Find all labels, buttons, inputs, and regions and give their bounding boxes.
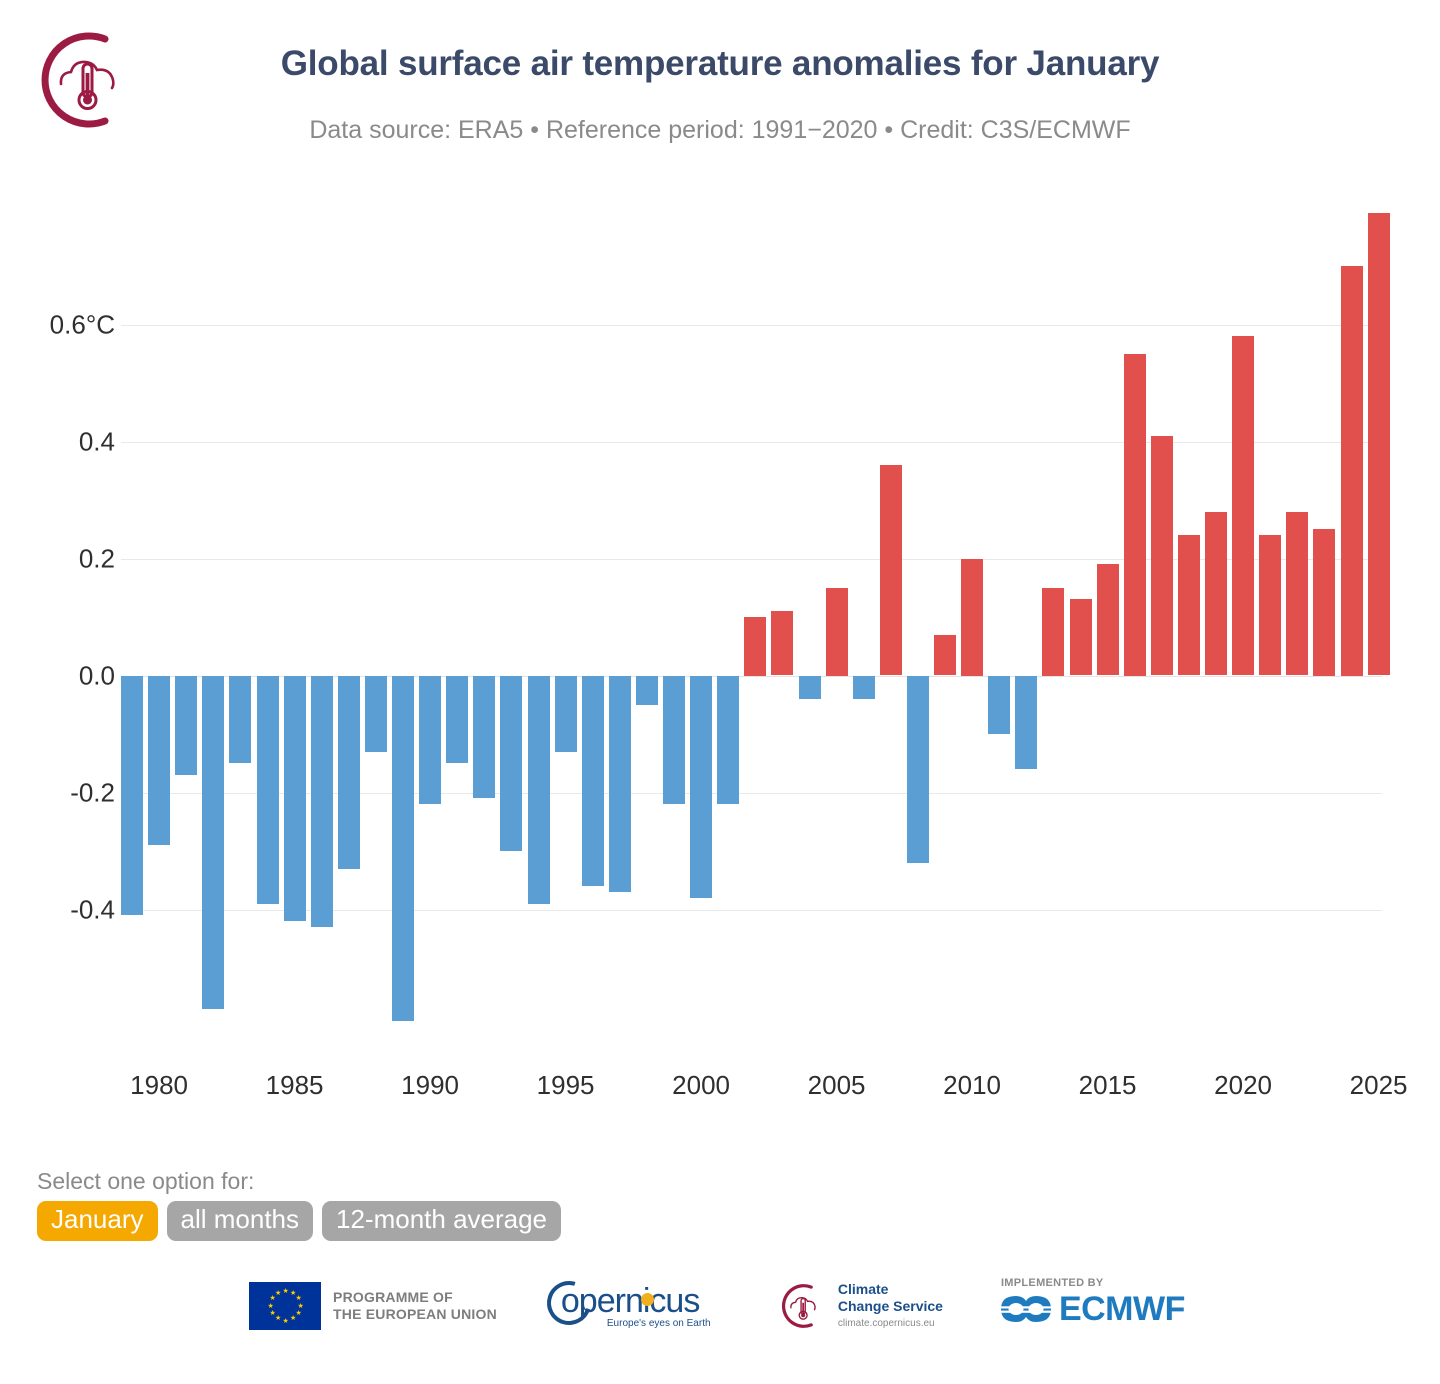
bar-1996[interactable] [582,676,604,887]
bar-1989[interactable] [392,676,414,1021]
x-axis-tick-label: 1985 [266,1070,324,1101]
eu-star-icon: ★ [270,1296,275,1301]
bar-1983[interactable] [229,676,251,764]
y-axis-tick-label: 0.4 [79,426,115,457]
bar-1987[interactable] [338,676,360,869]
x-axis-tick-label: 2010 [943,1070,1001,1101]
bar-1991[interactable] [446,676,468,764]
option-pill-january[interactable]: January [37,1201,158,1241]
bar-2006[interactable] [853,676,875,699]
bar-1981[interactable] [175,676,197,775]
bar-2017[interactable] [1151,436,1173,676]
bar-1994[interactable] [528,676,550,904]
bar-2002[interactable] [744,617,766,676]
eu-star-icon: ★ [296,1311,301,1316]
eu-logo-line1: PROGRAMME OF [333,1289,497,1307]
bar-1995[interactable] [555,676,577,752]
x-axis-tick-label: 2000 [672,1070,730,1101]
x-axis-tick-label: 1980 [130,1070,188,1101]
y-axis-tick-label: 0.2 [79,543,115,574]
bar-2022[interactable] [1286,512,1308,676]
x-axis-tick-label: 2025 [1350,1070,1408,1101]
bar-2008[interactable] [907,676,929,863]
bar-2001[interactable] [717,676,739,805]
bar-1985[interactable] [284,676,306,922]
bar-2014[interactable] [1070,599,1092,675]
eu-star-icon: ★ [290,1291,295,1296]
bar-2024[interactable] [1341,266,1363,676]
c3s-thermometer-cloud-icon [778,1282,826,1330]
bar-1998[interactable] [636,676,658,705]
c3s-url: climate.copernicus.eu [838,1318,943,1330]
copernicus-tagline: Europe's eyes on Earth [607,1318,711,1329]
copernicus-logo: opernicus Europe's eyes on Earth [545,1278,730,1334]
ecmwf-implemented-by-label: IMPLEMENTED BY [1001,1277,1104,1289]
eu-star-icon: ★ [270,1311,275,1316]
bar-2020[interactable] [1232,336,1254,675]
bar-2021[interactable] [1259,535,1281,675]
y-axis-tick-label: -0.4 [70,894,115,925]
chart-page: Global surface air temperature anomalies… [0,0,1440,1384]
eu-star-icon: ★ [275,1316,280,1321]
bar-2018[interactable] [1178,535,1200,675]
bar-1997[interactable] [609,676,631,892]
y-axis-tick-label: -0.2 [70,777,115,808]
option-selector: Select one option for: Januaryall months… [37,1168,561,1241]
x-axis-tick-label: 1995 [537,1070,595,1101]
bar-2003[interactable] [771,611,793,675]
bar-1986[interactable] [311,676,333,928]
gridline [121,442,1382,443]
x-axis-tick-label: 2005 [808,1070,866,1101]
option-pill-row: Januaryall months12-month average [37,1201,561,1241]
c3s-line1: Climate [838,1281,943,1298]
eu-logo-text: PROGRAMME OF THE EUROPEAN UNION [333,1289,497,1324]
bar-2016[interactable] [1124,354,1146,676]
bar-2025[interactable] [1368,213,1390,675]
eu-star-icon: ★ [296,1296,301,1301]
eu-star-icon: ★ [290,1316,295,1321]
bar-2011[interactable] [988,676,1010,735]
eu-logo-line2: THE EUROPEAN UNION [333,1306,497,1324]
x-axis-tick-label: 1990 [401,1070,459,1101]
option-pill-all-months[interactable]: all months [167,1201,314,1241]
bar-2015[interactable] [1097,564,1119,675]
bar-1993[interactable] [500,676,522,852]
bar-1979[interactable] [121,676,143,916]
ecmwf-logo: IMPLEMENTED BY ECMWF [991,1278,1191,1334]
bar-1984[interactable] [257,676,279,904]
x-axis-tick-label: 2015 [1079,1070,1137,1101]
eu-star-icon: ★ [298,1304,303,1309]
bar-2019[interactable] [1205,512,1227,676]
bar-2013[interactable] [1042,588,1064,676]
eu-flag-icon: ★★★★★★★★★★★★ [249,1282,321,1330]
bar-2012[interactable] [1015,676,1037,770]
bar-1990[interactable] [419,676,441,805]
eu-star-icon: ★ [268,1304,273,1309]
bar-1982[interactable] [202,676,224,1009]
x-axis-tick-label: 2020 [1214,1070,1272,1101]
bar-1980[interactable] [148,676,170,846]
footer-logos: ★★★★★★★★★★★★ PROGRAMME OF THE EUROPEAN U… [0,1278,1440,1358]
eu-star-icon: ★ [283,1319,288,1324]
copernicus-wordmark: opernicus [561,1282,699,1321]
eu-star-icon: ★ [275,1291,280,1296]
ecmwf-mark-icon [997,1293,1055,1330]
bar-1992[interactable] [473,676,495,799]
bar-2023[interactable] [1313,529,1335,675]
bar-2000[interactable] [690,676,712,898]
copernicus-dot-icon [641,1293,654,1306]
y-axis-tick-label: 0.0 [79,660,115,691]
ecmwf-wordmark: ECMWF [1059,1290,1185,1329]
bar-1988[interactable] [365,676,387,752]
bar-2004[interactable] [799,676,821,699]
y-axis-tick-label: 0.6°C [50,309,115,340]
gridline [121,325,1382,326]
bar-1999[interactable] [663,676,685,805]
bar-2007[interactable] [880,465,902,676]
bar-2009[interactable] [934,635,956,676]
bar-2005[interactable] [826,588,848,676]
eu-star-icon: ★ [283,1289,288,1294]
c3s-logo: Climate Change Service climate.copernicu… [778,1278,943,1334]
eu-logo: ★★★★★★★★★★★★ PROGRAMME OF THE EUROPEAN U… [249,1278,497,1334]
option-pill-12-month-average[interactable]: 12-month average [322,1201,561,1241]
bar-2010[interactable] [961,559,983,676]
c3s-line2: Change Service [838,1298,943,1315]
option-selector-label: Select one option for: [37,1168,561,1195]
